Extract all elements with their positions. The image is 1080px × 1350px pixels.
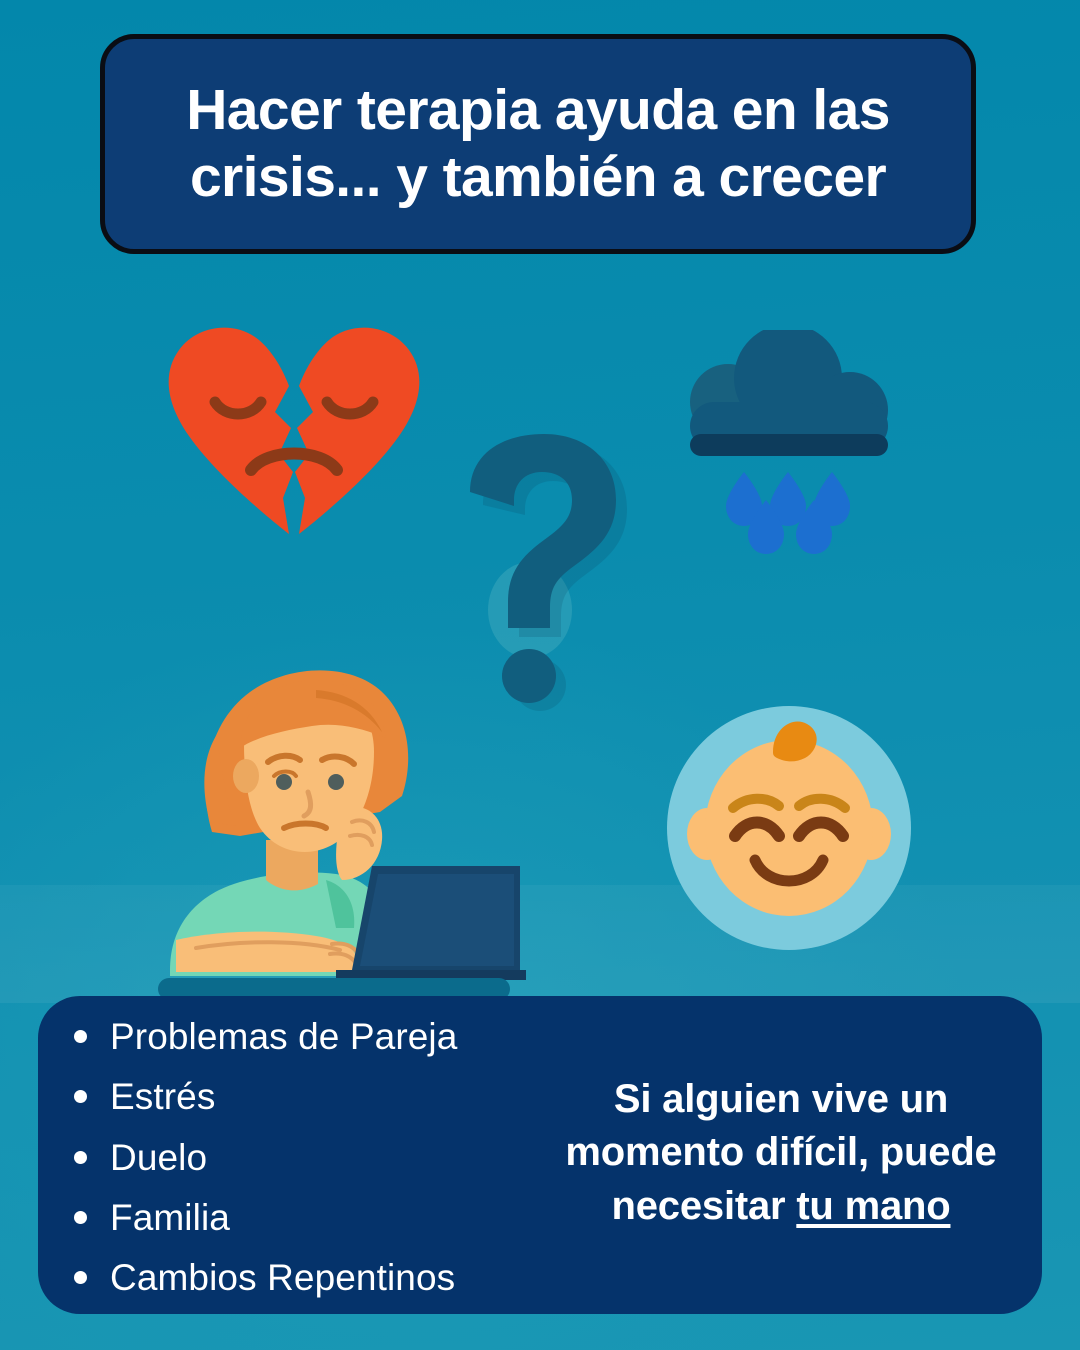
- bullet-dot-icon: [74, 1030, 87, 1043]
- list-item-label: Cambios Repentinos: [110, 1259, 455, 1296]
- list-item: Estrés: [74, 1078, 538, 1115]
- list-item: Cambios Repentinos: [74, 1259, 538, 1296]
- bullet-dot-icon: [74, 1211, 87, 1224]
- broken-heart-icon: [163, 316, 425, 538]
- list-item: Duelo: [74, 1139, 538, 1176]
- title-banner: Hacer terapia ayuda en las crisis... y t…: [100, 34, 976, 254]
- call-to-action-block: Si alguien vive un momento difícil, pued…: [538, 996, 1042, 1314]
- bottom-info-panel: Problemas de Pareja Estrés Duelo Familia…: [38, 996, 1042, 1314]
- list-item-label: Estrés: [110, 1078, 215, 1115]
- list-item: Familia: [74, 1199, 538, 1236]
- page-title: Hacer terapia ayuda en las crisis... y t…: [139, 77, 937, 212]
- bullet-dot-icon: [74, 1090, 87, 1103]
- list-item-label: Problemas de Pareja: [110, 1018, 457, 1055]
- cta-emphasis: tu mano: [796, 1184, 950, 1228]
- list-item-label: Duelo: [110, 1139, 207, 1176]
- cta-line-2: momento difícil, puede: [565, 1130, 996, 1174]
- cta-line-1: Si alguien vive un: [614, 1077, 948, 1121]
- infographic-canvas: Hacer terapia ayuda en las crisis... y t…: [0, 0, 1080, 1350]
- topics-list: Problemas de Pareja Estrés Duelo Familia…: [38, 996, 538, 1314]
- bullet-dot-icon: [74, 1271, 87, 1284]
- sad-woman-laptop-illustration: [140, 636, 528, 1008]
- rain-cloud-icon: [666, 330, 910, 570]
- baby-face-icon: [655, 694, 923, 962]
- bullet-dot-icon: [74, 1151, 87, 1164]
- cta-line-3-prefix: necesitar: [612, 1184, 797, 1228]
- list-item: Problemas de Pareja: [74, 1018, 538, 1055]
- call-to-action-text: Si alguien vive un momento difícil, pued…: [565, 1073, 996, 1233]
- list-item-label: Familia: [110, 1199, 230, 1236]
